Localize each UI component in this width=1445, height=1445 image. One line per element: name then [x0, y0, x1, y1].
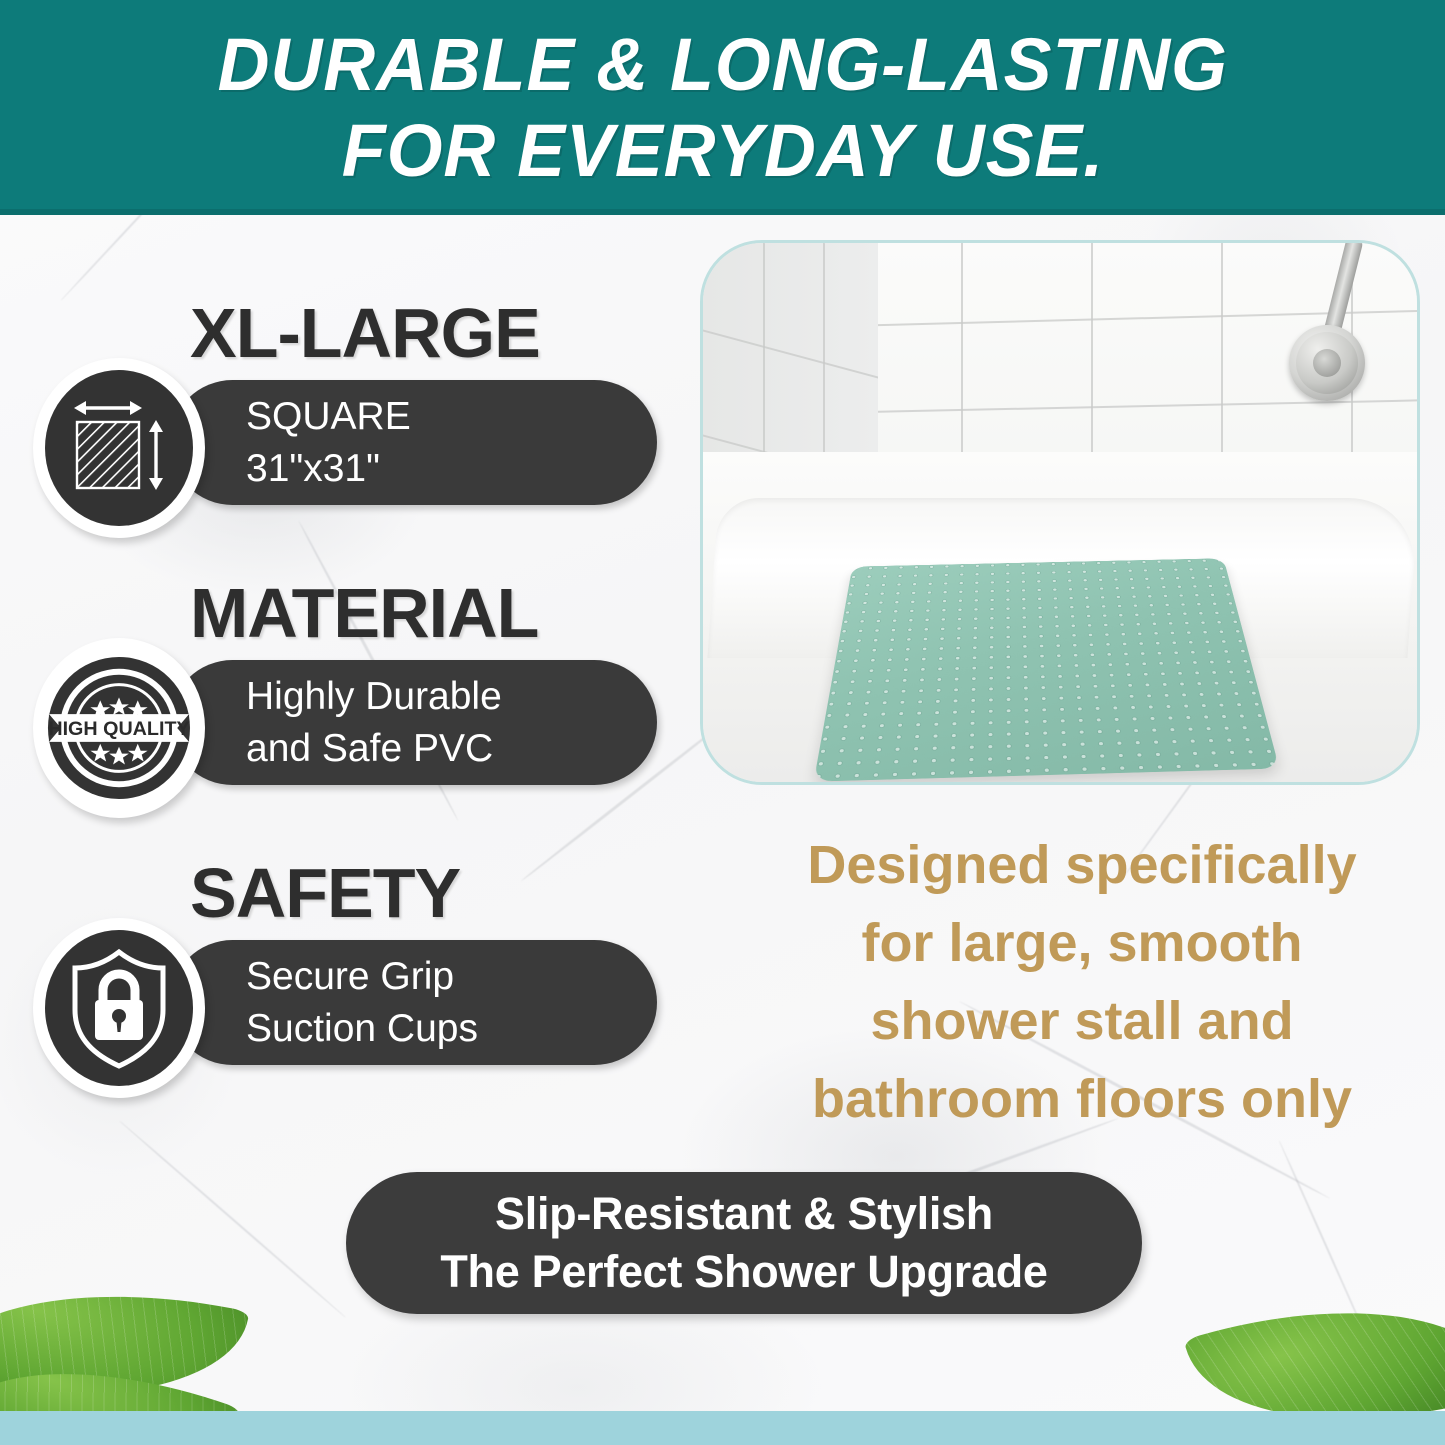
feature-title: SAFETY — [190, 856, 460, 930]
feature-title: XL-LARGE — [190, 296, 540, 370]
description-text: Designed specifically for large, smooth … — [744, 826, 1420, 1138]
shield-lock-icon — [33, 918, 205, 1098]
header-banner: DURABLE & LONG-LASTING FOR EVERYDAY USE. — [0, 0, 1445, 215]
bottom-banner-line-2: The Perfect Shower Upgrade — [440, 1243, 1047, 1301]
dimensions-icon — [33, 358, 205, 538]
feature-pill-line-1: Secure Grip — [246, 951, 657, 1003]
feature-pill-line-2: and Safe PVC — [246, 723, 657, 775]
shower-head-icon — [1289, 325, 1365, 401]
bottom-banner-line-1: Slip-Resistant & Stylish — [495, 1185, 993, 1243]
high-quality-badge-icon: HIGH QUALITY — [33, 638, 205, 818]
feature-safety: SAFETY Secure Grip Suction Cups — [0, 856, 700, 1116]
feature-pill-line-2: 31"x31" — [246, 443, 657, 495]
product-photo — [700, 240, 1420, 785]
feature-pill: Highly Durable and Safe PVC — [170, 660, 657, 785]
footer-bar — [0, 1411, 1445, 1445]
feature-pill: Secure Grip Suction Cups — [170, 940, 657, 1065]
feature-title: MATERIAL — [190, 576, 538, 650]
feature-pill-line-1: Highly Durable — [246, 671, 657, 723]
feature-pill-line-2: Suction Cups — [246, 1003, 657, 1055]
description-line-4: bathroom floors only — [744, 1060, 1420, 1138]
header-line-2: FOR EVERYDAY USE. — [341, 108, 1103, 194]
badge-label-text: HIGH QUALITY — [48, 718, 189, 740]
description-line-1: Designed specifically — [744, 826, 1420, 904]
feature-pill-line-1: SQUARE — [246, 391, 657, 443]
header-line-1: DURABLE & LONG-LASTING — [217, 22, 1227, 108]
feature-material: MATERIAL Highly Durable and Safe PVC — [0, 576, 700, 836]
feature-pill: SQUARE 31"x31" — [170, 380, 657, 505]
description-line-2: for large, smooth — [744, 904, 1420, 982]
bottom-banner: Slip-Resistant & Stylish The Perfect Sho… — [346, 1172, 1142, 1314]
product-infographic: DURABLE & LONG-LASTING FOR EVERYDAY USE.… — [0, 0, 1445, 1445]
shower-mat — [814, 558, 1280, 781]
feature-xl-large: XL-LARGE SQUARE 31"x31" — [0, 296, 700, 556]
description-line-3: shower stall and — [744, 982, 1420, 1060]
